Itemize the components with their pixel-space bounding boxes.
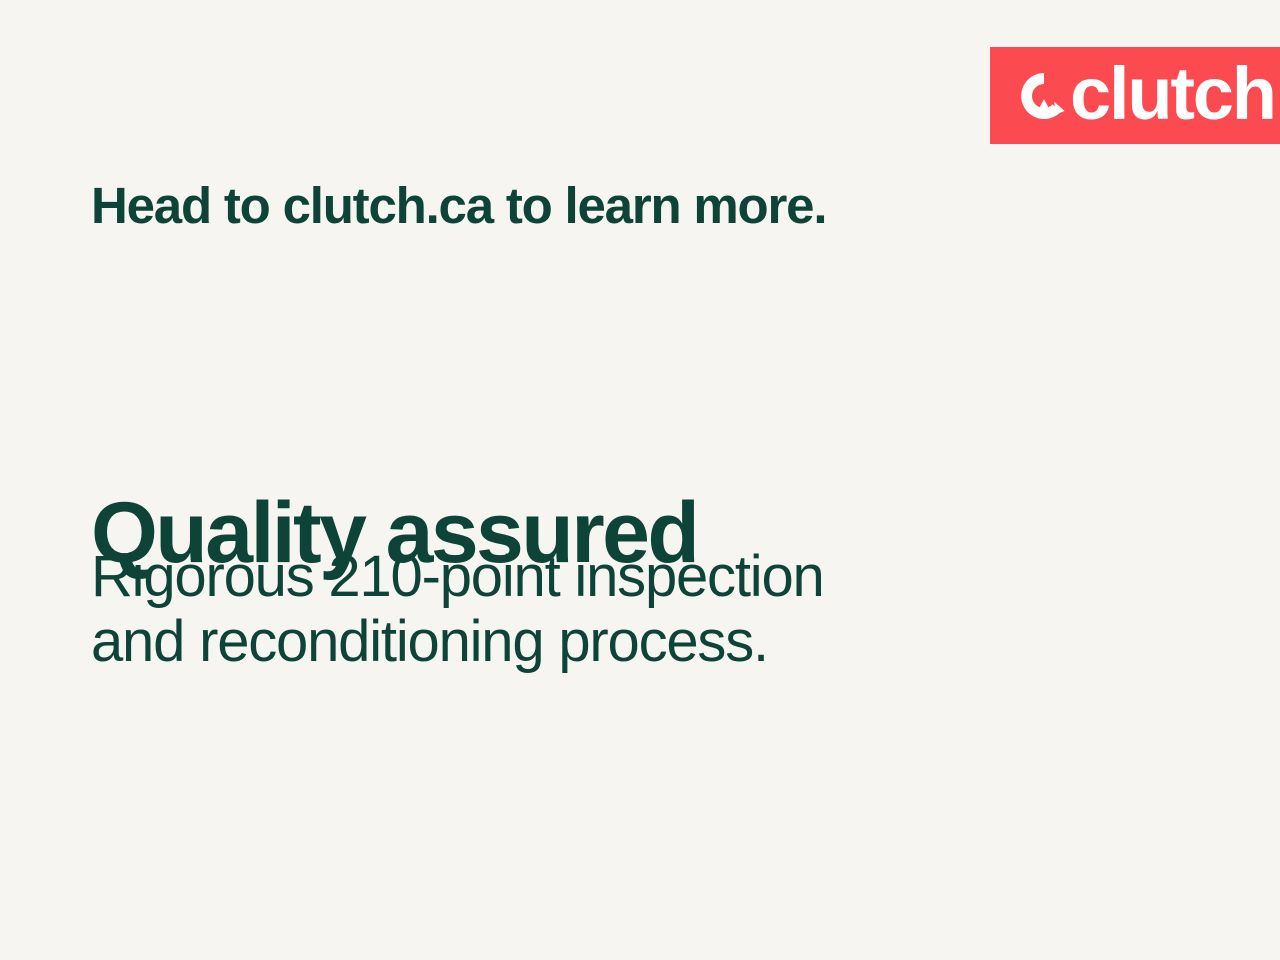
brand-badge[interactable]: clutch — [990, 47, 1280, 144]
clutch-c-mark-icon — [1018, 70, 1070, 122]
subhead-text: Rigorous 210-point inspection and recond… — [91, 545, 824, 675]
slide-canvas: clutch Head to clutch.ca to learn more. … — [0, 0, 1280, 960]
brand-wordmark: clutch — [1070, 65, 1275, 123]
clutch-logo: clutch — [1018, 65, 1277, 127]
cta-text: Head to clutch.ca to learn more. — [91, 180, 826, 231]
subhead-line-1: Rigorous 210-point inspection — [91, 545, 824, 610]
subhead-line-2: and reconditioning process. — [91, 610, 824, 675]
